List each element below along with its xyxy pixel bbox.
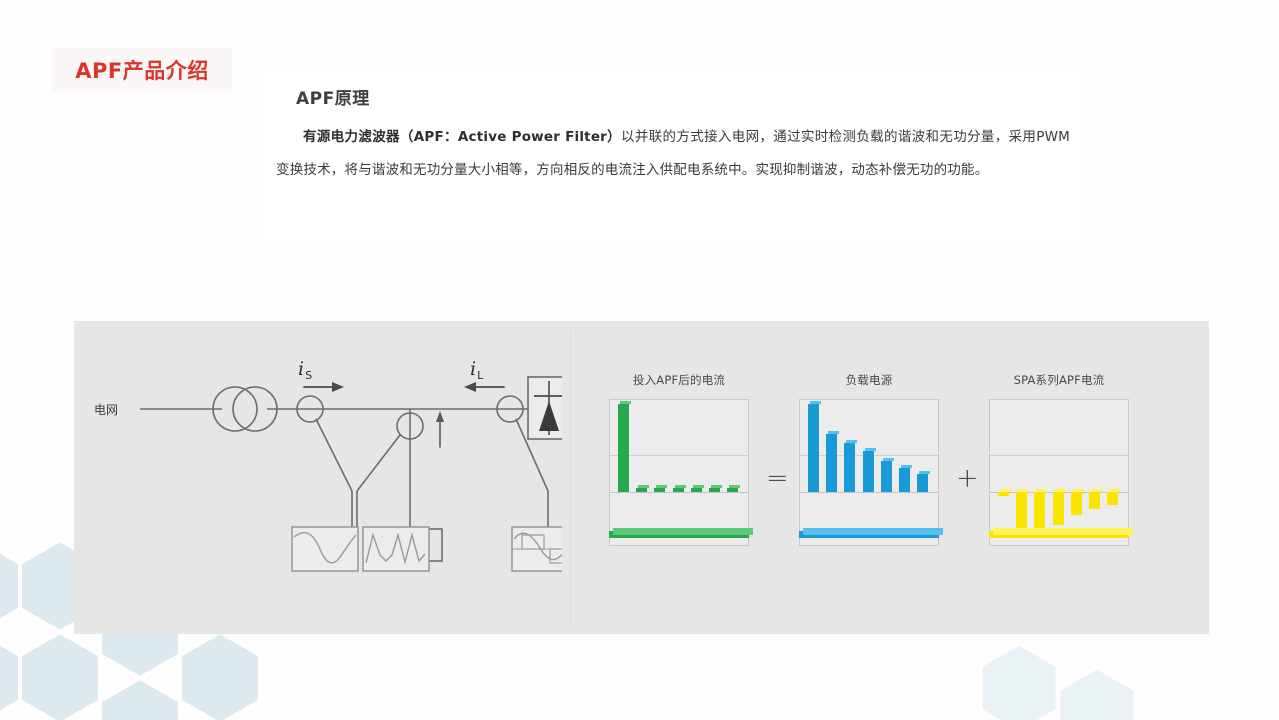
bar	[727, 488, 738, 492]
bar-top-bevel	[1109, 489, 1120, 492]
bar-face	[709, 488, 720, 492]
bar-top-bevel	[1055, 489, 1066, 492]
chart-floor-bar-bevel	[803, 528, 943, 535]
bar	[1089, 492, 1100, 509]
chart-title-spa-apf: SPA系列APF电流	[989, 371, 1129, 389]
distorted-harmonic-waveform	[363, 527, 429, 571]
bar-top-bevel	[1018, 489, 1029, 492]
bar-top-bevel	[919, 471, 930, 474]
bar	[899, 468, 910, 492]
grid-label: 电网	[94, 403, 118, 417]
plus-symbol: +	[956, 463, 979, 494]
bar-face	[863, 451, 874, 492]
bar	[826, 434, 837, 492]
bar-top-bevel	[638, 485, 649, 488]
chart-bars-spa-apf	[994, 400, 1122, 545]
chart-block-load-source: 负载电源	[799, 371, 939, 546]
charts-group: 投入APF后的电流 = 负载电源 +	[609, 371, 1194, 601]
bar-face	[1107, 492, 1118, 505]
bar-face	[1071, 492, 1082, 515]
bar-face	[691, 488, 702, 492]
bar	[1053, 492, 1064, 525]
bar-face	[636, 488, 647, 492]
chart-floor-bar	[989, 531, 1129, 538]
bar-top-bevel	[711, 485, 722, 488]
bar-top-bevel	[620, 401, 631, 404]
injection-arrow-icon	[436, 411, 444, 447]
bar-face	[917, 474, 928, 492]
bar-face	[808, 404, 819, 492]
bar-top-bevel	[693, 485, 704, 488]
chart-floor-bar-bevel	[613, 528, 753, 535]
bar	[1071, 492, 1082, 515]
bar-face	[673, 488, 684, 492]
bar	[863, 451, 874, 492]
bar	[998, 492, 1009, 496]
rectifier-diode-symbol	[528, 377, 562, 439]
bar-top-bevel	[828, 431, 839, 434]
chart-title-load-source: 负载电源	[799, 371, 939, 389]
chart-frame-load-source	[799, 399, 939, 546]
chart-bars-load-source	[804, 400, 932, 545]
chart-floor-bar	[609, 531, 749, 538]
bar-face	[654, 488, 665, 492]
bar-face	[844, 443, 855, 492]
bar	[881, 461, 892, 492]
chart-floor-bar	[799, 531, 939, 538]
bar-face	[826, 434, 837, 492]
chart-block-spa-apf: SPA系列APF电流	[989, 371, 1129, 546]
chart-frame-spa-apf	[989, 399, 1129, 546]
page-title-tag: APF产品介绍	[52, 48, 232, 91]
card-heading: APF原理	[296, 84, 370, 109]
bar	[808, 404, 819, 492]
bar-top-bevel	[1000, 489, 1011, 492]
card-body-bold: 有源电力滤波器（APF：Active Power Filter）	[303, 129, 621, 145]
ct-apf-lead	[357, 435, 400, 491]
slide-root: APF产品介绍 APF原理 有源电力滤波器（APF：Active Power F…	[0, 0, 1279, 720]
sine-with-square-waveform	[512, 527, 562, 571]
bar-top-bevel	[729, 485, 740, 488]
equals-symbol: =	[766, 463, 789, 494]
bar-face	[881, 461, 892, 492]
current-source-label: iS	[298, 358, 312, 382]
chart-bars-after-apf	[614, 400, 742, 545]
bar-top-bevel	[1036, 489, 1047, 492]
current-load-arrow-icon	[464, 382, 504, 392]
bar-top-bevel	[901, 465, 912, 468]
principle-card: APF原理 有源电力滤波器（APF：Active Power Filter）以并…	[258, 69, 1082, 242]
bar-top-bevel	[675, 485, 686, 488]
bar	[1107, 492, 1118, 505]
bar-top-bevel	[1073, 489, 1084, 492]
bar	[917, 474, 928, 492]
panel-divider	[570, 329, 571, 626]
hexagon-pattern-right	[979, 640, 1159, 720]
bar-face	[998, 492, 1009, 496]
sine-waveform	[292, 527, 358, 571]
card-body: 有源电力滤波器（APF：Active Power Filter）以并联的方式接入…	[276, 121, 1070, 187]
bar	[654, 488, 665, 492]
diagram-panel: iS iL APF 电网 负载	[74, 321, 1209, 634]
current-source-arrow-icon	[304, 382, 344, 392]
bar	[673, 488, 684, 492]
chart-block-after-apf: 投入APF后的电流	[609, 371, 749, 546]
bar	[691, 488, 702, 492]
chart-title-after-apf: 投入APF后的电流	[609, 371, 749, 389]
apf-circuit-diagram: iS iL APF 电网 负载	[92, 349, 562, 614]
bar-face	[899, 468, 910, 492]
bar-top-bevel	[883, 458, 894, 461]
current-load-label: iL	[470, 358, 484, 382]
bar-top-bevel	[810, 401, 821, 404]
bar	[844, 443, 855, 492]
chart-floor-bar-bevel	[993, 528, 1133, 535]
bar-face	[618, 404, 629, 492]
bar	[709, 488, 720, 492]
bar-top-bevel	[1091, 489, 1102, 492]
bar-top-bevel	[656, 485, 667, 488]
bar-face	[727, 488, 738, 492]
bar-face	[1053, 492, 1064, 525]
chart-frame-after-apf	[609, 399, 749, 546]
ct-source-lead	[316, 419, 352, 491]
bar-top-bevel	[865, 448, 876, 451]
bar	[618, 404, 629, 492]
bar-top-bevel	[846, 440, 857, 443]
bar-face	[1089, 492, 1100, 509]
page-title: APF产品介绍	[75, 55, 209, 85]
bar	[636, 488, 647, 492]
